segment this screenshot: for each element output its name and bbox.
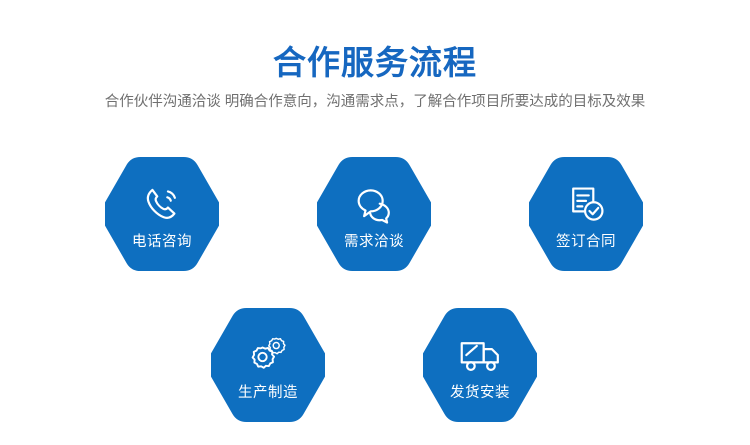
process-step-phone-consultation[interactable]: 电话咨询	[105, 152, 219, 276]
process-step-sign-contract[interactable]: 签订合同	[529, 152, 643, 276]
process-step-content: 电话咨询	[105, 152, 219, 276]
process-step-requirement-discussion[interactable]: 需求洽谈	[317, 152, 431, 276]
process-steps-group: 电话咨询 需求洽谈	[0, 0, 750, 445]
process-step-manufacturing[interactable]: 生产制造	[211, 303, 325, 427]
process-step-label: 发货安装	[450, 384, 510, 402]
process-step-content: 生产制造	[211, 303, 325, 427]
phone-call-icon	[140, 184, 184, 226]
process-step-label: 生产制造	[238, 384, 298, 402]
speech-bubbles-icon	[352, 184, 396, 226]
process-step-content: 发货安装	[423, 303, 537, 427]
process-step-label: 电话咨询	[132, 233, 192, 251]
gears-icon	[246, 335, 290, 377]
process-step-content: 签订合同	[529, 152, 643, 276]
cooperation-process-page: 合作服务流程 合作伙伴沟通洽谈 明确合作意向，沟通需求点，了解合作项目所要达成的…	[0, 0, 750, 445]
process-step-label: 签订合同	[556, 233, 616, 251]
document-check-icon	[564, 184, 608, 226]
process-step-delivery-installation[interactable]: 发货安装	[423, 303, 537, 427]
process-step-content: 需求洽谈	[317, 152, 431, 276]
delivery-truck-icon	[458, 335, 502, 377]
process-step-label: 需求洽谈	[344, 233, 404, 251]
